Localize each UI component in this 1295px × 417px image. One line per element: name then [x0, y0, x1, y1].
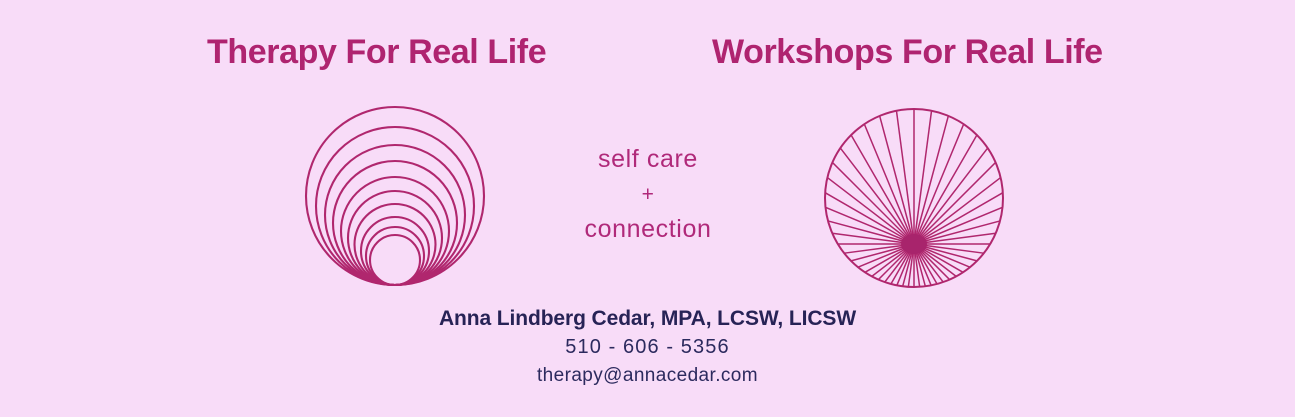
heading-therapy-for-real-life: Therapy For Real Life	[207, 35, 546, 69]
sunburst-logo-icon	[822, 107, 1006, 289]
tagline-block: self care + connection	[513, 142, 783, 247]
tagline-line-connection: connection	[513, 212, 783, 247]
contact-block: Anna Lindberg Cedar, MPA, LCSW, LICSW 51…	[0, 306, 1295, 390]
heading-workshops-for-real-life: Workshops For Real Life	[712, 35, 1103, 69]
sunburst-svg	[822, 107, 1006, 289]
banner-root: Therapy For Real Life Workshops For Real…	[0, 0, 1295, 417]
nested-circles-svg	[300, 104, 490, 290]
practitioner-name: Anna Lindberg Cedar, MPA, LCSW, LICSW	[0, 306, 1295, 332]
tagline-line-self-care: self care	[513, 142, 783, 177]
nested-circles-logo-icon	[300, 104, 490, 290]
contact-phone-number[interactable]: 510 - 606 - 5356	[0, 332, 1295, 362]
tagline-line-plus: +	[513, 177, 783, 212]
contact-email-address[interactable]: therapy@annacedar.com	[0, 362, 1295, 390]
